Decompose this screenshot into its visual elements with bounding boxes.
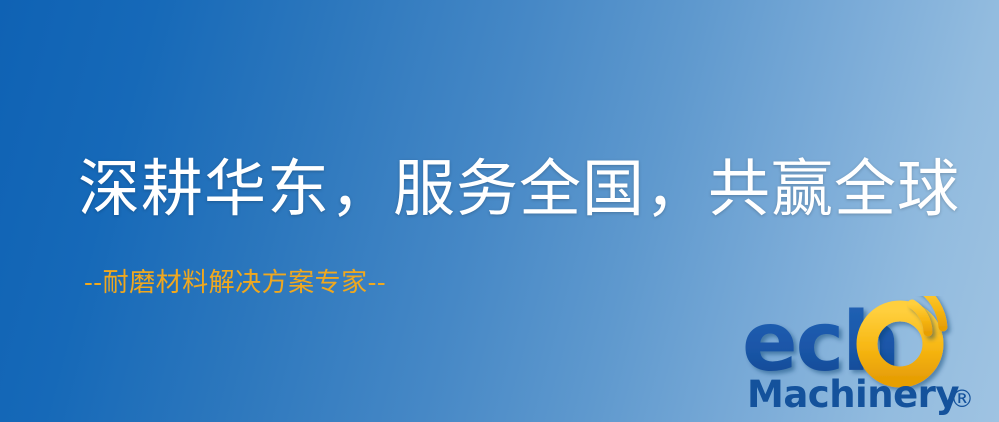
banner-subtitle: --耐磨材料解决方案专家-- — [84, 266, 386, 300]
logo-tagline-machinery: Machinery — [747, 373, 959, 416]
logo-registered-mark-icon: ® — [950, 385, 974, 413]
logo-tagline-group: Machinery ® — [747, 373, 974, 416]
banner-headline: 深耕华东，服务全国，共赢全球 — [78, 152, 960, 226]
promo-banner: 深耕华东，服务全国，共赢全球 --耐磨材料解决方案专家-- — [0, 0, 999, 422]
echo-machinery-logo: ech Machinery ® — [742, 296, 994, 418]
